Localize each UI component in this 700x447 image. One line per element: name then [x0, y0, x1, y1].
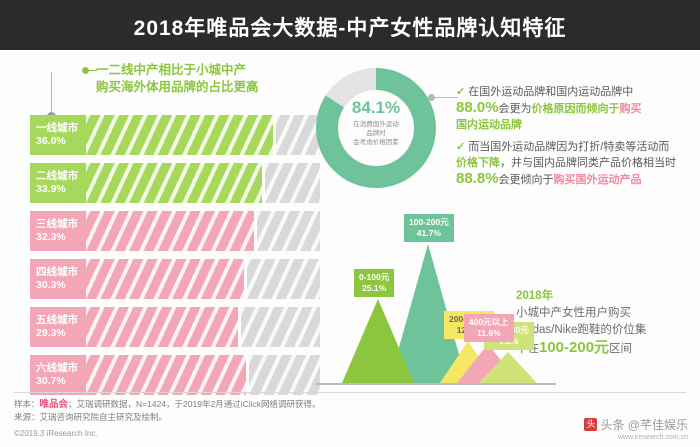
bar-stripes: [86, 163, 262, 203]
donut-subtitle: 在消费国外运动 品牌时 会考虑价格因素: [316, 120, 436, 147]
mountain-value: 25.1%: [359, 283, 389, 294]
bar-category: 二线城市: [36, 170, 78, 183]
rt-p1-c: 会更为: [499, 103, 532, 115]
rt-p1-d: 价格原因而倾向于: [532, 103, 620, 115]
bar-track: [86, 355, 320, 395]
mountain-label: 400元以上11.6%: [464, 314, 514, 342]
bar-value: 32.3%: [36, 231, 66, 244]
footer-sample-label: 样本：: [14, 399, 40, 409]
watermark-url: www.iresearch.com.cn: [584, 434, 688, 441]
bar-track: [86, 259, 320, 299]
check-icon: ✓: [456, 86, 468, 98]
bar-row: 六线城市30.7%: [30, 355, 320, 395]
bar-label: 六线城市30.7%: [30, 355, 86, 395]
bar-row: 四线城市30.3%: [30, 259, 320, 299]
left-annotation-line1: 一二线中产相比于小城中产: [96, 62, 311, 79]
bar-value: 30.7%: [36, 375, 66, 388]
bar-chart: 一线城市36.0%二线城市33.9%三线城市32.3%四线城市30.3%五线城市…: [30, 115, 320, 403]
bar-track: [86, 163, 320, 203]
bar-track: [86, 307, 320, 347]
bar-remainder-stripes: [241, 307, 320, 347]
bar-value: 29.3%: [36, 327, 66, 340]
bar-label: 四线城市30.3%: [30, 259, 86, 299]
bar-remainder-stripes: [257, 211, 320, 251]
bar-row: 一线城市36.0%: [30, 115, 320, 155]
bar-row: 五线城市29.3%: [30, 307, 320, 347]
bar-fill: [86, 211, 254, 251]
bar-category: 一线城市: [36, 122, 78, 135]
bar-label: 五线城市29.3%: [30, 307, 86, 347]
bar-row: 三线城市32.3%: [30, 211, 320, 251]
bar-category: 三线城市: [36, 218, 78, 231]
mountain-value: 11.6%: [469, 328, 509, 339]
bar-fill: [86, 355, 246, 395]
rt-p2-b: 价格下降: [456, 157, 500, 169]
footer-copyright: ©2019.3 iResearch Inc.: [14, 429, 98, 438]
right-text-paragraph-2: ✓ 而当国外运动品牌因为打折/特卖等活动而 价格下降，并与国内品牌同类产品价格相…: [456, 139, 694, 188]
donut-subtitle-line3: 会考虑价格因素: [316, 138, 436, 147]
mountain-peak: [342, 299, 414, 383]
caption-line2: 小城中产女性用户购买: [516, 305, 692, 322]
donut-chart: 84.1% 在消费国外运动 品牌时 会考虑价格因素: [316, 68, 436, 188]
mountain-category: 100-200元: [409, 217, 449, 228]
rt-p1-e: 购买: [620, 103, 642, 115]
rt-p2-e: 会更倾向于: [499, 174, 554, 186]
mountain-value: 41.7%: [409, 228, 449, 239]
mountain-peak: [479, 352, 537, 383]
bar-remainder: [265, 163, 320, 203]
bar-fill: [86, 259, 244, 299]
bar-remainder: [257, 211, 320, 251]
footer-sample: 样本：唯品会；艾瑞调研数据，N=1424，于2019年2月通过iClick网络调…: [14, 398, 321, 411]
bar-stripes: [86, 259, 244, 299]
watermark-text: 头条 @芊佳娱乐: [600, 418, 688, 432]
donut-leader-dot-icon: [428, 94, 435, 101]
infographic-root: 2018年唯品会大数据-中产女性品牌认知特征 一二线中产相比于小城中产 购买海外…: [0, 0, 700, 447]
bar-remainder: [241, 307, 320, 347]
left-annotation: 一二线中产相比于小城中产 购买海外体用品牌的占比更高: [96, 62, 311, 96]
bar-remainder: [249, 355, 320, 395]
rt-p1-f: 国内运动品牌: [456, 119, 522, 131]
footer-source: 来源：艾瑞咨询研究院自主研究及绘制。: [14, 411, 321, 423]
bar-stripes: [86, 355, 246, 395]
bar-fill: [86, 115, 273, 155]
bar-remainder-stripes: [276, 115, 320, 155]
check-icon-2: ✓: [456, 141, 468, 153]
footer-notes: 样本：唯品会；艾瑞调研数据，N=1424，于2019年2月通过iClick网络调…: [14, 398, 321, 423]
bar-remainder-stripes: [249, 355, 320, 395]
page-title: 2018年唯品会大数据-中产女性品牌认知特征: [0, 12, 700, 42]
mountain-axis: [316, 383, 556, 385]
bar-label: 一线城市36.0%: [30, 115, 86, 155]
bar-fill: [86, 163, 262, 203]
bar-value: 30.3%: [36, 279, 66, 292]
donut-subtitle-line2: 品牌时: [316, 129, 436, 138]
rt-p1-a: 在国外运动品牌和国内运动品牌中: [468, 86, 633, 98]
left-annotation-line2: 购买海外体用品牌的占比更高: [96, 79, 311, 96]
caption-line4-b: 100-200元: [539, 339, 609, 356]
bar-track: [86, 115, 320, 155]
mountain-category: 400元以上: [469, 317, 509, 328]
bar-stripes: [86, 115, 273, 155]
bar-category: 五线城市: [36, 314, 78, 327]
bar-category: 六线城市: [36, 362, 78, 375]
donut-subtitle-line1: 在消费国外运动: [316, 120, 436, 129]
mountain-label: 0-100元25.1%: [354, 269, 394, 297]
bar-stripes: [86, 211, 254, 251]
right-text-paragraph-1: ✓ 在国外运动品牌和国内运动品牌中 88.0%会更为价格原因而倾向于购买 国内运…: [456, 84, 694, 133]
bar-track: [86, 211, 320, 251]
bar-value: 33.9%: [36, 183, 66, 196]
rt-p1-b: 88.0%: [456, 99, 499, 116]
bar-remainder: [247, 259, 320, 299]
mountain-category: 0-100元: [359, 272, 389, 283]
mountain-caption: 2018年 小城中产女性用户购买 Adidas/Nike跑鞋的价位集 中在100…: [516, 288, 692, 358]
bar-label: 三线城市32.3%: [30, 211, 86, 251]
bar-category: 四线城市: [36, 266, 78, 279]
caption-line4: 中在100-200元区间: [516, 339, 692, 358]
bar-remainder-stripes: [247, 259, 320, 299]
footer-sample-rest: ；艾瑞调研数据，N=1424，于2019年2月通过iClick网络调研获得。: [68, 399, 320, 409]
bar-stripes: [86, 307, 238, 347]
toutiao-icon: 头: [584, 418, 597, 431]
bar-row: 二线城市33.9%: [30, 163, 320, 203]
footer-divider: [14, 392, 686, 393]
header-bar: 2018年唯品会大数据-中产女性品牌认知特征: [0, 0, 700, 50]
caption-line3: Adidas/Nike跑鞋的价位集: [516, 322, 692, 339]
bar-remainder-stripes: [265, 163, 320, 203]
rt-p2-a: 而当国外运动品牌因为打折/特卖等活动而: [468, 141, 669, 153]
donut-percent: 84.1%: [316, 98, 436, 118]
caption-line1: 2018年: [516, 288, 692, 305]
rt-p2-d: 88.8%: [456, 170, 499, 187]
rt-p2-f: 购买国外运动产品: [554, 174, 642, 186]
note-vertical-line: [51, 72, 52, 114]
right-text-block: ✓ 在国外运动品牌和国内运动品牌中 88.0%会更为价格原因而倾向于购买 国内运…: [456, 84, 694, 194]
caption-line4-c: 区间: [609, 343, 632, 355]
bar-remainder: [276, 115, 320, 155]
bar-label: 二线城市33.9%: [30, 163, 86, 203]
watermark: 头头条 @芊佳娱乐 www.iresearch.com.cn: [584, 416, 688, 441]
bar-fill: [86, 307, 238, 347]
rt-p2-c: ，并与国内品牌同类产品价格相当时: [500, 157, 676, 169]
footer-sample-brand: 唯品会: [40, 399, 69, 410]
bar-value: 36.0%: [36, 135, 66, 148]
mountain-label: 100-200元41.7%: [404, 214, 454, 242]
